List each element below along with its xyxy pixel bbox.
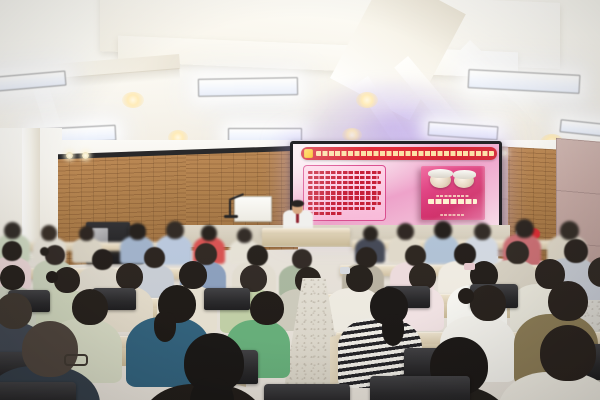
slide-text-line	[308, 212, 341, 215]
hair-bun	[46, 271, 58, 283]
slide-text-panel	[303, 165, 385, 222]
ceiling-panel-light-3	[198, 77, 298, 97]
track-light-2	[82, 152, 89, 159]
slide-text-line	[308, 171, 380, 174]
slide-text-line	[308, 207, 375, 210]
book-publisher	[440, 214, 466, 216]
lecture-hall-photo	[0, 0, 600, 400]
hair-clip	[464, 263, 475, 270]
book-subtitle	[436, 195, 469, 197]
ceiling-downlight-1	[122, 92, 144, 108]
track-light-1	[66, 152, 73, 159]
portrait-marx-hair	[428, 169, 454, 178]
book-title	[428, 199, 477, 204]
slide-text-line	[308, 191, 380, 194]
ponytail	[382, 314, 404, 346]
chair-back-foreground	[0, 382, 76, 400]
hair-bun	[40, 247, 49, 256]
chair-back-foreground	[264, 384, 350, 400]
book-cover-image	[421, 166, 485, 220]
slide-text-line	[308, 186, 376, 189]
ponytail	[154, 312, 176, 342]
party-emblem-icon	[304, 149, 313, 158]
slide-text-line	[308, 196, 379, 199]
whiteboard	[234, 196, 272, 222]
slide-text-line	[308, 202, 380, 205]
slide-text-line	[308, 176, 378, 179]
ceiling-downlight-3	[356, 92, 378, 108]
presenter-table-front	[262, 234, 350, 246]
projection-screen	[290, 141, 502, 233]
presentation-slide	[293, 144, 499, 230]
portrait-engels-hair	[453, 170, 477, 178]
hair-bun	[458, 288, 474, 304]
hair-clip	[340, 267, 350, 274]
chair-back	[204, 288, 250, 310]
gooseneck-microphone-base	[224, 215, 238, 218]
slide-title-bar	[301, 147, 497, 160]
slide-title-text	[316, 151, 494, 156]
speaker-hair	[291, 200, 304, 207]
slide-text-line	[308, 181, 380, 184]
chair-back-foreground	[370, 376, 470, 400]
eyeglasses-icon	[64, 354, 88, 366]
gooseneck-microphone-arm	[229, 200, 231, 217]
